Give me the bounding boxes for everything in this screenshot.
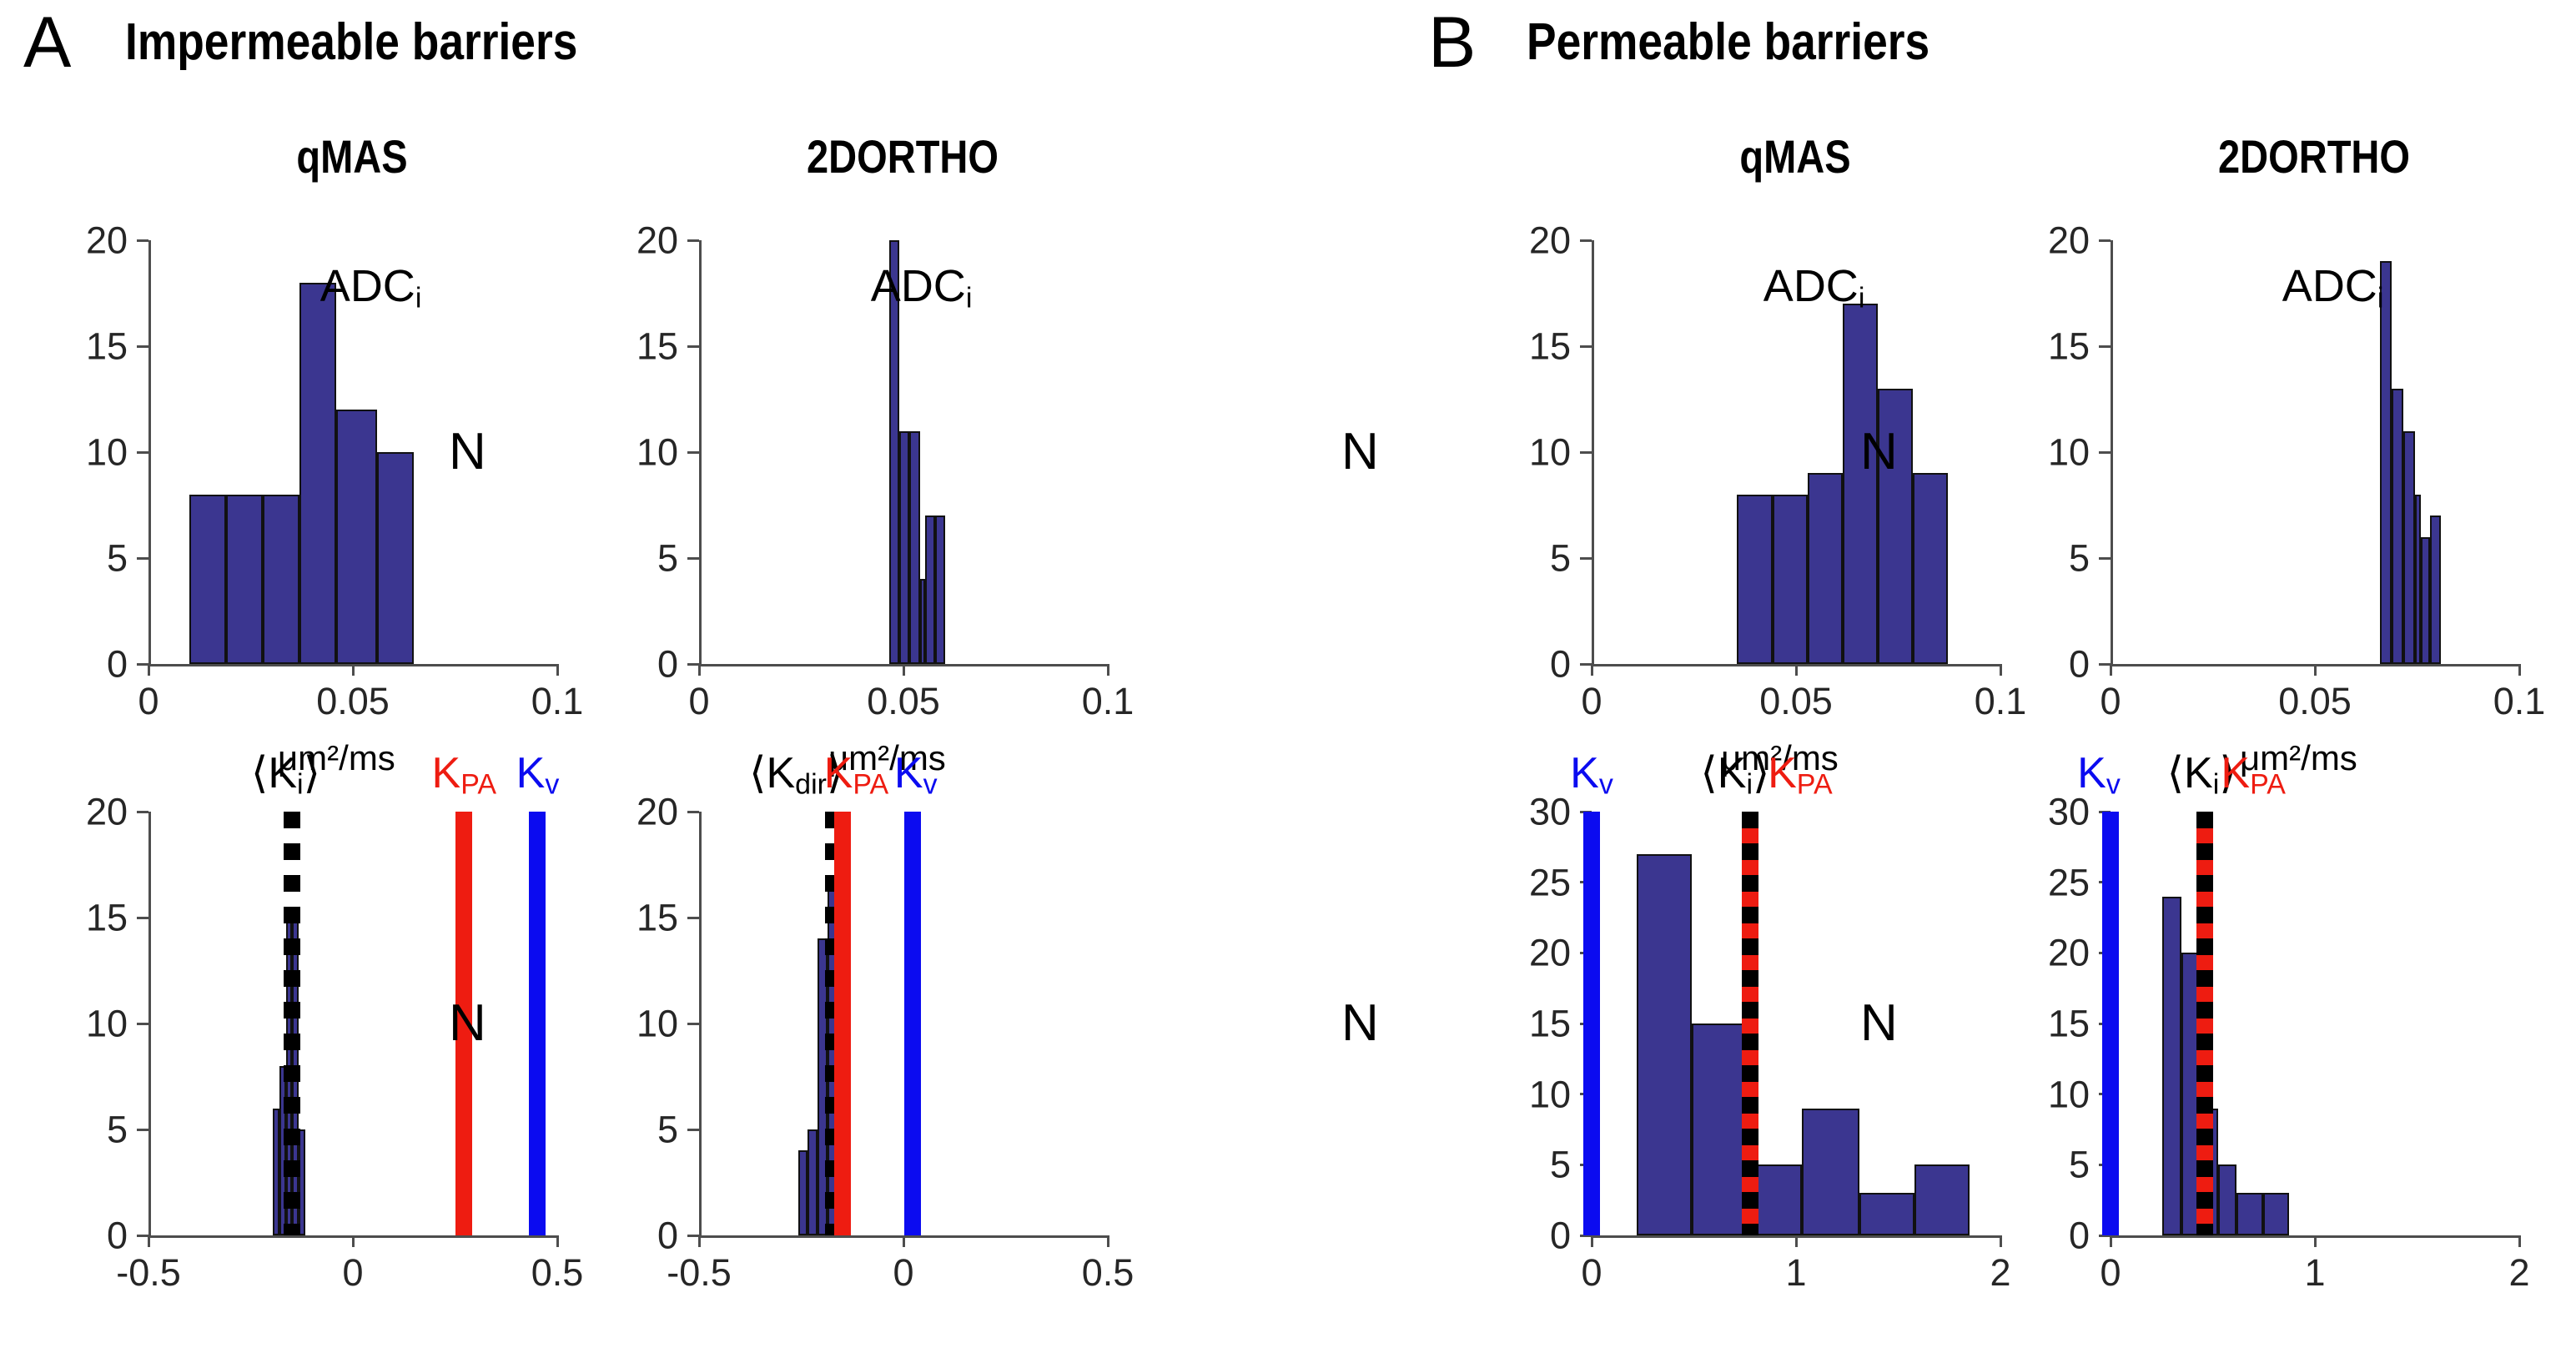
marker-label-text: K	[432, 749, 461, 797]
y-tick-label: 5	[1952, 540, 2090, 577]
adc-annotation-text: ADC	[320, 261, 415, 311]
marker-label-mean_Ki: ⟨Ki⟩	[1700, 752, 1769, 798]
y-tick	[687, 345, 699, 348]
column-title-1: 2DORTHO	[748, 133, 1057, 180]
marker-line-K_v	[2102, 812, 2119, 1235]
marker-label-text: ⟨K	[251, 749, 297, 797]
y-tick-label: 5	[1433, 1146, 1571, 1184]
x-tick	[352, 1235, 355, 1247]
marker-label-text: ⟨K	[2167, 749, 2213, 797]
y-tick-label: 0	[541, 646, 678, 683]
marker-label-K_v: Kv	[1570, 752, 1613, 798]
y-axis-label: N	[1860, 998, 1898, 1049]
histogram-bar	[189, 495, 226, 664]
y-tick	[2099, 239, 2111, 242]
y-tick-label: 15	[0, 899, 128, 937]
x-tick-label: 0.5	[1082, 1254, 1135, 1291]
y-tick-label: 10	[0, 1005, 128, 1043]
y-tick	[1580, 557, 1592, 560]
y-tick	[687, 1023, 699, 1025]
marker-label-text: K	[894, 749, 923, 797]
histogram-bar	[2263, 1193, 2290, 1235]
x-tick-label: 0	[342, 1254, 363, 1291]
y-tick-label: 25	[1433, 863, 1571, 901]
marker-line-mean_Ki	[284, 812, 300, 1235]
marker-label-K_PA: KPA	[432, 752, 497, 798]
y-tick	[687, 557, 699, 560]
y-tick	[137, 451, 148, 454]
x-tick	[1591, 1235, 1593, 1247]
marker-label-text: ⟨K	[1700, 749, 1746, 797]
panel-title-B: Permeable barriers	[1527, 17, 1929, 68]
x-tick-label: 0	[1581, 1254, 1602, 1291]
marker-label-K_v: Kv	[516, 752, 560, 798]
marker-label-text: K	[516, 749, 546, 797]
y-tick	[137, 811, 148, 813]
plot-A-qMAS-K: 05101520-0.500.5N⟨Ki⟩KPAKv	[148, 812, 557, 1235]
marker-label-text: K	[824, 749, 853, 797]
histogram-bar	[263, 495, 299, 664]
x-tick	[1107, 664, 1109, 676]
adc-annotation-subscript: i	[1859, 282, 1865, 314]
marker-label-subscript: v	[1599, 768, 1613, 800]
x-tick-label: 0	[138, 682, 158, 720]
y-axis-label: N	[1341, 998, 1379, 1049]
y-tick-label: 5	[0, 540, 128, 577]
marker-label-subscript: v	[2106, 768, 2121, 800]
x-tick-label: 0.1	[1082, 682, 1135, 720]
column-title-2: qMAS	[1641, 133, 1950, 180]
marker-label-subscript: PA	[853, 768, 888, 800]
x-tick	[1795, 664, 1798, 676]
y-tick	[2099, 451, 2111, 454]
x-tick-label: 0	[893, 1254, 913, 1291]
marker-label-K_v: Kv	[2077, 752, 2121, 798]
adc-annotation: ADCi	[1763, 264, 1865, 312]
y-tick-label: 10	[541, 434, 678, 471]
y-tick	[137, 239, 148, 242]
x-tick-label: 2	[2508, 1254, 2529, 1291]
y-tick-label: 20	[1433, 222, 1571, 259]
adc-annotation-subscript: i	[415, 282, 422, 314]
y-axis-label: N	[1860, 426, 1898, 478]
adc-annotation-subscript: i	[966, 282, 973, 314]
marker-label-text: K	[1570, 749, 1599, 797]
marker-label-K_PA: KPA	[2221, 752, 2286, 798]
marker-label-subscript: PA	[2250, 768, 2286, 800]
column-title-0: qMAS	[198, 133, 506, 180]
marker-label-subscript: dir	[795, 768, 827, 800]
x-tick	[1107, 1235, 1109, 1247]
marker-label-text: K	[2221, 749, 2250, 797]
histogram-bar	[1843, 304, 1878, 664]
histogram-bar	[226, 495, 263, 664]
x-tick	[2314, 1235, 2317, 1247]
y-tick	[687, 239, 699, 242]
histogram-bar	[1692, 1024, 1749, 1235]
y-tick-label: 5	[541, 1111, 678, 1149]
marker-label-text: K	[2077, 749, 2106, 797]
plot-A-2DORTHO-ADC: 0510152000.050.1Nμm²/msADCi	[699, 240, 1108, 664]
histogram-bar	[2218, 1164, 2236, 1235]
histogram-bar	[2403, 431, 2415, 664]
x-tick	[148, 664, 150, 676]
adc-annotation: ADCi	[320, 264, 422, 312]
adc-annotation-subscript: i	[2377, 282, 2384, 314]
y-tick-label: 10	[1952, 1075, 2090, 1113]
x-tick	[698, 1235, 701, 1247]
marker-line-mean_Ki	[1742, 812, 1758, 1235]
marker-line-mean_Ki	[2196, 812, 2213, 1235]
y-tick-label: 15	[1433, 328, 1571, 365]
y-tick	[687, 811, 699, 813]
y-tick-label: 25	[1952, 863, 2090, 901]
x-tick	[148, 1235, 150, 1247]
y-tick	[2099, 345, 2111, 348]
histogram-bar	[2421, 537, 2430, 664]
y-tick-label: 30	[1433, 793, 1571, 831]
x-tick	[1591, 664, 1593, 676]
x-tick-label: 0.1	[2493, 682, 2546, 720]
y-tick-label: 20	[1952, 934, 2090, 972]
x-tick-label: 1	[2304, 1254, 2325, 1291]
y-tick-label: 0	[0, 1217, 128, 1255]
y-tick-label: 15	[1952, 1005, 2090, 1043]
histogram-bar	[377, 452, 414, 664]
x-tick	[2110, 1235, 2112, 1247]
histogram-bar	[1802, 1109, 1859, 1235]
y-tick-label: 20	[0, 222, 128, 259]
y-axis-label: N	[449, 998, 486, 1049]
y-tick	[137, 1129, 148, 1131]
adc-annotation-text: ADC	[1763, 261, 1859, 311]
x-tick-label: 0.05	[1759, 682, 1833, 720]
marker-label-mean_Ki: ⟨Ki⟩	[251, 752, 320, 798]
marker-line-K_v	[1583, 812, 1600, 1235]
y-tick-label: 5	[541, 540, 678, 577]
y-tick-label: 10	[541, 1005, 678, 1043]
y-tick-label: 20	[1433, 934, 1571, 972]
y-tick-label: 10	[1433, 434, 1571, 471]
histogram-bar	[2430, 516, 2441, 664]
plot-A-2DORTHO-K: 05101520-0.500.5N⟨Kdir⟩KPAKv	[699, 812, 1108, 1235]
histogram-bar	[798, 1150, 808, 1235]
y-tick	[687, 917, 699, 919]
y-tick-label: 20	[0, 793, 128, 831]
plot-B-qMAS-K: 051015202530012NKv⟨Ki⟩KPA	[1592, 812, 2000, 1235]
marker-line-K_PA	[834, 812, 851, 1235]
x-tick	[2314, 664, 2317, 676]
y-tick	[1580, 451, 1592, 454]
y-tick-label: 15	[1952, 328, 2090, 365]
y-axis-label: N	[1341, 426, 1379, 478]
y-tick-label: 10	[1433, 1075, 1571, 1113]
histogram-bars	[1592, 812, 2000, 1235]
x-tick	[352, 664, 355, 676]
y-tick-label: 10	[1952, 434, 2090, 471]
y-axis-label: N	[449, 426, 486, 478]
x-tick-label: 0	[2100, 1254, 2121, 1291]
figure-root: AImpermeable barriersBPermeable barriers…	[0, 0, 2576, 1353]
x-tick-label: 0.05	[2278, 682, 2352, 720]
histogram-bar	[336, 410, 377, 664]
x-tick	[1795, 1235, 1798, 1247]
x-tick	[903, 1235, 905, 1247]
plot-B-2DORTHO-ADC: 0510152000.050.1Nμm²/msADCi	[2111, 240, 2519, 664]
marker-label-subscript: PA	[1797, 768, 1833, 800]
y-tick-label: 15	[0, 328, 128, 365]
histogram-bar	[299, 283, 336, 664]
x-tick	[698, 664, 701, 676]
y-tick-label: 0	[1433, 646, 1571, 683]
plot-A-qMAS-ADC: 0510152000.050.1Nμm²/msADCi	[148, 240, 557, 664]
panel-letter-A: A	[23, 7, 70, 78]
x-tick-label: 0.1	[531, 682, 584, 720]
histogram-bars	[2111, 812, 2519, 1235]
y-tick	[1580, 239, 1592, 242]
y-tick-label: 15	[541, 899, 678, 937]
x-tick-label: -0.5	[667, 1254, 732, 1291]
histogram-bar	[2380, 261, 2392, 664]
marker-label-text: K	[1768, 749, 1797, 797]
histogram-bar	[1637, 854, 1692, 1235]
marker-label-K_PA: KPA	[824, 752, 889, 798]
adc-annotation: ADCi	[871, 264, 973, 312]
histogram-bar	[925, 516, 935, 664]
histogram-bar	[2415, 495, 2422, 664]
x-tick	[2518, 1235, 2521, 1247]
x-tick	[903, 664, 905, 676]
marker-label-subscript: PA	[460, 768, 496, 800]
y-tick	[137, 345, 148, 348]
marker-line-K_v	[904, 812, 921, 1235]
y-tick-label: 15	[541, 328, 678, 365]
x-tick-label: 0	[2100, 682, 2121, 720]
histogram-bar	[1773, 495, 1808, 664]
marker-label-subscript: i	[1746, 768, 1753, 800]
y-tick	[137, 1023, 148, 1025]
x-tick-label: 0.1	[1975, 682, 2027, 720]
y-tick-label: 20	[541, 793, 678, 831]
x-tick-label: 2	[1990, 1254, 2010, 1291]
histogram-bar	[899, 431, 909, 664]
x-tick-label: 1	[1785, 1254, 1806, 1291]
y-tick-label: 5	[1952, 1146, 2090, 1184]
marker-label-text: ⟨K	[749, 749, 795, 797]
marker-label-subscript: i	[297, 768, 304, 800]
y-tick	[2099, 557, 2111, 560]
y-tick	[137, 557, 148, 560]
y-tick	[687, 1129, 699, 1131]
marker-label-K_PA: KPA	[1768, 752, 1833, 798]
histogram-bar	[2392, 389, 2403, 664]
y-tick-label: 0	[541, 1217, 678, 1255]
y-tick	[137, 917, 148, 919]
histogram-bar	[273, 1109, 279, 1235]
marker-label-subscript: v	[923, 768, 938, 800]
y-tick-label: 0	[0, 646, 128, 683]
y-tick	[1580, 345, 1592, 348]
x-tick-label: 0.5	[531, 1254, 584, 1291]
histogram-bar	[1913, 473, 1948, 664]
plot-B-qMAS-ADC: 0510152000.050.1Nμm²/msADCi	[1592, 240, 2000, 664]
panel-title-A: Impermeable barriers	[125, 17, 577, 68]
histogram-bar	[808, 1129, 818, 1235]
histogram-bar	[909, 431, 919, 664]
x-tick	[2518, 664, 2521, 676]
marker-label-K_v: Kv	[894, 752, 938, 798]
histogram-bar	[1859, 1193, 1914, 1235]
histogram-bar	[1737, 495, 1773, 664]
adc-annotation: ADCi	[2282, 264, 2384, 312]
y-tick-label: 20	[1952, 222, 2090, 259]
histogram-bar	[2162, 897, 2181, 1235]
x-tick-label: 0.05	[867, 682, 940, 720]
y-tick-label: 0	[1433, 1217, 1571, 1255]
histogram-bar	[2236, 1193, 2263, 1235]
histogram-bar	[935, 516, 945, 664]
marker-label-subscript: i	[2213, 768, 2220, 800]
y-tick	[687, 451, 699, 454]
y-tick-label: 5	[0, 1111, 128, 1149]
x-tick-label: 0.05	[316, 682, 390, 720]
histogram-bars	[148, 812, 557, 1235]
marker-label-close: ⟩	[304, 749, 320, 797]
x-tick-label: -0.5	[116, 1254, 181, 1291]
panel-letter-B: B	[1428, 7, 1475, 78]
y-tick-label: 0	[1952, 1217, 2090, 1255]
y-tick-label: 20	[541, 222, 678, 259]
y-tick-label: 10	[0, 434, 128, 471]
x-tick-label: 0	[1581, 682, 1602, 720]
y-tick-label: 0	[1952, 646, 2090, 683]
x-tick	[2110, 664, 2112, 676]
histogram-bar	[1808, 473, 1844, 664]
y-tick-label: 15	[1433, 1005, 1571, 1043]
adc-annotation-text: ADC	[2282, 261, 2377, 311]
column-title-3: 2DORTHO	[2160, 133, 2468, 180]
plot-B-2DORTHO-K: 051015202530012NKv⟨Ki⟩KPA	[2111, 812, 2519, 1235]
adc-annotation-text: ADC	[871, 261, 966, 311]
y-tick-label: 30	[1952, 793, 2090, 831]
y-tick-label: 5	[1433, 540, 1571, 577]
x-tick-label: 0	[688, 682, 709, 720]
